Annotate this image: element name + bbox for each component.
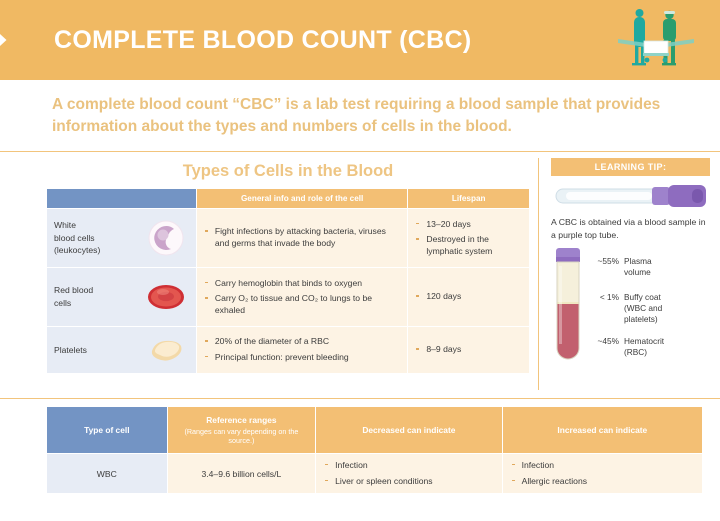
col-header-sub: (Ranges can vary depending on the source…: [173, 427, 311, 446]
page-title: COMPLETE BLOOD COUNT (CBC): [54, 28, 472, 53]
layer-buffy-coat: < 1% Buffy coat(WBC andplatelets): [589, 292, 662, 325]
medical-staff-patient-icon: [616, 9, 696, 71]
cell-lifespan-platelets: 8–9 days: [408, 327, 529, 373]
table-row: Red bloodcells Carry hemoglobin that bin: [47, 268, 529, 326]
list-item: Infection: [511, 460, 694, 472]
list-item: Liver or spleen conditions: [324, 476, 493, 488]
list-item: 20% of the diameter of a RBC: [204, 336, 400, 348]
intro-section: A complete blood count “CBC” is a lab te…: [0, 80, 720, 151]
layer-percent: ~55%: [589, 256, 619, 278]
cell-info-platelets: 20% of the diameter of a RBC Principal f…: [197, 327, 407, 373]
intro-text: A complete blood count “CBC” is a lab te…: [52, 94, 694, 139]
learning-tip-header: LEARNING TIP:: [551, 158, 710, 176]
lifespan-list: 13–20 days Destroyed in the lymphatic sy…: [415, 219, 522, 258]
lifespan-list: 8–9 days: [415, 344, 522, 356]
row-reference-wbc: 3.4–9.6 billion cells/L: [168, 454, 316, 493]
col-header-main: Reference ranges: [206, 415, 276, 425]
list-item: Infection: [324, 460, 493, 472]
info-list: 20% of the diameter of a RBC Principal f…: [204, 336, 400, 363]
col-header-type-of-cell: Type of cell: [47, 407, 167, 453]
list-item: Carry O₂ to tissue and CO₂ to lungs to b…: [204, 293, 400, 316]
col-header-decreased: Decreased can indicate: [316, 407, 501, 453]
blood-layers-diagram: ~55% Plasmavolume < 1% Buffy coat(WBC an…: [551, 248, 710, 366]
info-list: Fight infections by attacking bacteria, …: [204, 226, 400, 249]
col-header-reference-ranges: Reference ranges (Ranges can vary depend…: [168, 407, 316, 453]
white-blood-cell-icon: [143, 217, 189, 259]
layer-label: Hematocrit(RBC): [624, 336, 664, 358]
row-decreased-wbc: Infection Liver or spleen conditions: [316, 454, 501, 493]
list-item: Fight infections by attacking bacteria, …: [204, 226, 400, 249]
layer-plasma: ~55% Plasmavolume: [589, 256, 652, 278]
cell-name-label: Platelets: [54, 344, 87, 356]
table-row: WBC 3.4–9.6 billion cells/L Infection Li…: [47, 454, 702, 493]
list-item: 8–9 days: [415, 344, 522, 356]
row-type-wbc: WBC: [47, 454, 167, 493]
cell-type-platelets: Platelets: [47, 327, 196, 373]
layer-labels: ~55% Plasmavolume < 1% Buffy coat(WBC an…: [589, 248, 710, 366]
cell-info-rbc: Carry hemoglobin that binds to oxygen Ca…: [197, 268, 407, 326]
table-row: Whiteblood cells(leukocytes) Fight infec…: [47, 209, 529, 267]
centrifuged-blood-tube-icon: [551, 248, 585, 366]
lifespan-list: 120 days: [415, 291, 522, 303]
cell-lifespan-wbc: 13–20 days Destroyed in the lymphatic sy…: [408, 209, 529, 267]
layer-label: Buffy coat(WBC andplatelets): [624, 292, 662, 325]
row-increased-wbc: Infection Allergic reactions: [503, 454, 702, 493]
section-title-cells: Types of Cells in the Blood: [46, 158, 530, 188]
platelet-icon: [143, 329, 189, 371]
cell-name-label: Red bloodcells: [54, 284, 93, 309]
increased-list: Infection Allergic reactions: [511, 460, 694, 487]
table-header-row: General info and role of the cell Lifesp…: [47, 189, 529, 208]
layer-label: Plasmavolume: [624, 256, 652, 278]
layer-percent: ~45%: [589, 336, 619, 358]
cell-type-rbc: Red bloodcells: [47, 268, 196, 326]
ranges-section: Type of cell Reference ranges (Ranges ca…: [0, 399, 720, 494]
col-header-general-info: General info and role of the cell: [197, 189, 407, 208]
list-item: Destroyed in the lymphatic system: [415, 234, 522, 257]
table-header-row: Type of cell Reference ranges (Ranges ca…: [47, 407, 702, 453]
cell-info-wbc: Fight infections by attacking bacteria, …: [197, 209, 407, 267]
col-header-cell-type: [47, 189, 196, 208]
col-header-lifespan: Lifespan: [408, 189, 529, 208]
cell-type-wbc: Whiteblood cells(leukocytes): [47, 209, 196, 267]
cell-lifespan-rbc: 120 days: [408, 268, 529, 326]
middle-section: Types of Cells in the Blood General info…: [0, 151, 720, 399]
list-item: Allergic reactions: [511, 476, 694, 488]
list-item: 13–20 days: [415, 219, 522, 231]
learning-tip-text: A CBC is obtained via a blood sample in …: [551, 216, 710, 242]
cells-panel: Types of Cells in the Blood General info…: [0, 158, 538, 390]
purple-top-test-tube-icon: [552, 183, 710, 209]
cell-name-label: Whiteblood cells(leukocytes): [54, 219, 100, 256]
decreased-list: Infection Liver or spleen conditions: [324, 460, 493, 487]
list-item: Carry hemoglobin that binds to oxygen: [204, 278, 400, 290]
layer-hematocrit: ~45% Hematocrit(RBC): [589, 336, 664, 358]
page-header: COMPLETE BLOOD COUNT (CBC): [0, 0, 720, 80]
col-header-increased: Increased can indicate: [503, 407, 702, 453]
chevron-right-icon: [0, 14, 24, 66]
red-blood-cell-icon: [143, 276, 189, 318]
info-list: Carry hemoglobin that binds to oxygen Ca…: [204, 278, 400, 317]
table-row: Platelets 20% of the diameter of a RBC P…: [47, 327, 529, 373]
reference-ranges-table: Type of cell Reference ranges (Ranges ca…: [46, 406, 703, 494]
cell-types-table: General info and role of the cell Lifesp…: [46, 188, 530, 374]
layer-percent: < 1%: [589, 292, 619, 325]
learning-tip-panel: LEARNING TIP: A CBC is obtained via a bl…: [538, 158, 720, 390]
list-item: 120 days: [415, 291, 522, 303]
list-item: Principal function: prevent bleeding: [204, 352, 400, 364]
